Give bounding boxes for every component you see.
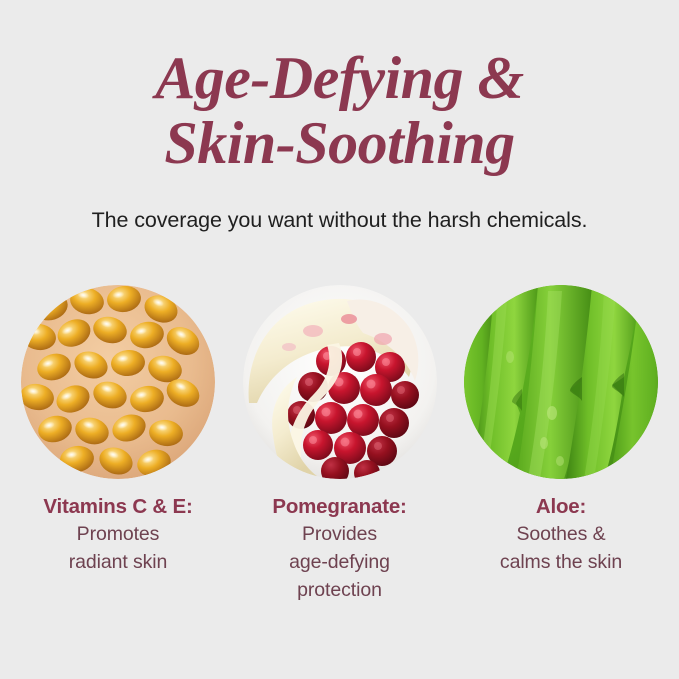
ingredient-description: Provides age-defying protection [232,520,447,604]
pomegranate-photo [243,285,437,479]
ingredient-item-vitamins: Vitamins C & E: Promotes radiant skin [21,285,215,604]
description-line: age-defying [232,548,447,576]
description-line: radiant skin [11,548,226,576]
ingredient-list: Vitamins C & E: Promotes radiant skin [0,285,679,604]
aloe-leaves-photo [464,285,658,479]
ingredient-label: Vitamins C & E: [11,493,226,520]
ingredient-item-aloe: Aloe: Soothes & calms the skin [464,285,658,604]
ingredient-description: Soothes & calms the skin [454,520,669,576]
ingredient-caption: Vitamins C & E: Promotes radiant skin [11,493,226,576]
headline-line-2: Skin-Soothing [0,111,679,176]
headline-line-1: Age-Defying & [0,46,679,111]
description-line: Soothes & [454,520,669,548]
infographic-page: Age-Defying & Skin-Soothing The coverage… [0,0,679,679]
page-subtitle: The coverage you want without the harsh … [0,206,679,234]
ingredient-caption: Pomegranate: Provides age-defying protec… [232,493,447,604]
description-line: calms the skin [454,548,669,576]
description-line: protection [232,576,447,604]
ingredient-item-pomegranate: Pomegranate: Provides age-defying protec… [243,285,437,604]
ingredient-label: Aloe: [454,493,669,520]
page-title: Age-Defying & Skin-Soothing [0,46,679,176]
description-line: Promotes [11,520,226,548]
ingredient-description: Promotes radiant skin [11,520,226,576]
ingredient-label: Pomegranate: [232,493,447,520]
description-line: Provides [232,520,447,548]
ingredient-caption: Aloe: Soothes & calms the skin [454,493,669,576]
vitamin-capsules-photo [21,285,215,479]
